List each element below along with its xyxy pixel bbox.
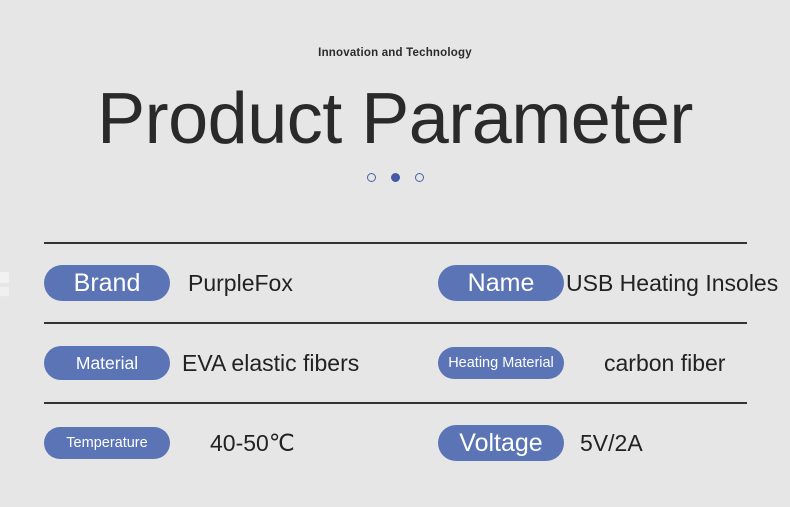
spec-label-pill-heating-material: Heating Material xyxy=(438,347,564,379)
carousel-dot-1[interactable] xyxy=(367,173,376,182)
carousel-dot-3[interactable] xyxy=(415,173,424,182)
spec-cell-name: Name USB Heating Insoles xyxy=(438,265,747,301)
spec-value-heating-material: carbon fiber xyxy=(604,350,725,377)
eyebrow-text: Innovation and Technology xyxy=(0,0,790,60)
spec-cell-voltage: Voltage 5V/2A xyxy=(438,425,747,461)
spec-cell-temperature: Temperature 40-50℃ xyxy=(44,427,438,459)
carousel-indicator[interactable] xyxy=(0,173,790,182)
spec-cell-brand: Brand PurpleFox xyxy=(44,265,438,301)
spec-value-temperature: 40-50℃ xyxy=(210,430,295,457)
carousel-dot-2[interactable] xyxy=(391,173,400,182)
table-row: Brand PurpleFox Name USB Heating Insoles xyxy=(44,244,747,322)
spec-label-pill-material: Material xyxy=(44,346,170,380)
spec-label-pill-name: Name xyxy=(438,265,564,301)
spec-label-pill-temperature: Temperature xyxy=(44,427,170,459)
spec-label-pill-voltage: Voltage xyxy=(438,425,564,461)
page-title: Product Parameter xyxy=(0,60,790,158)
spec-value-material: EVA elastic fibers xyxy=(182,350,359,377)
spec-value-name: USB Heating Insoles xyxy=(566,270,778,297)
specification-table: Brand PurpleFox Name USB Heating Insoles… xyxy=(44,242,747,482)
spec-value-voltage: 5V/2A xyxy=(580,430,643,457)
table-row: Temperature 40-50℃ Voltage 5V/2A xyxy=(44,404,747,482)
page-header: Innovation and Technology Product Parame… xyxy=(0,0,790,182)
left-edge-artifact xyxy=(0,272,9,302)
spec-value-brand: PurpleFox xyxy=(188,270,293,297)
table-row: Material EVA elastic fibers Heating Mate… xyxy=(44,324,747,402)
spec-label-pill-brand: Brand xyxy=(44,265,170,301)
spec-cell-heating-material: Heating Material carbon fiber xyxy=(438,347,747,379)
spec-cell-material: Material EVA elastic fibers xyxy=(44,346,438,380)
